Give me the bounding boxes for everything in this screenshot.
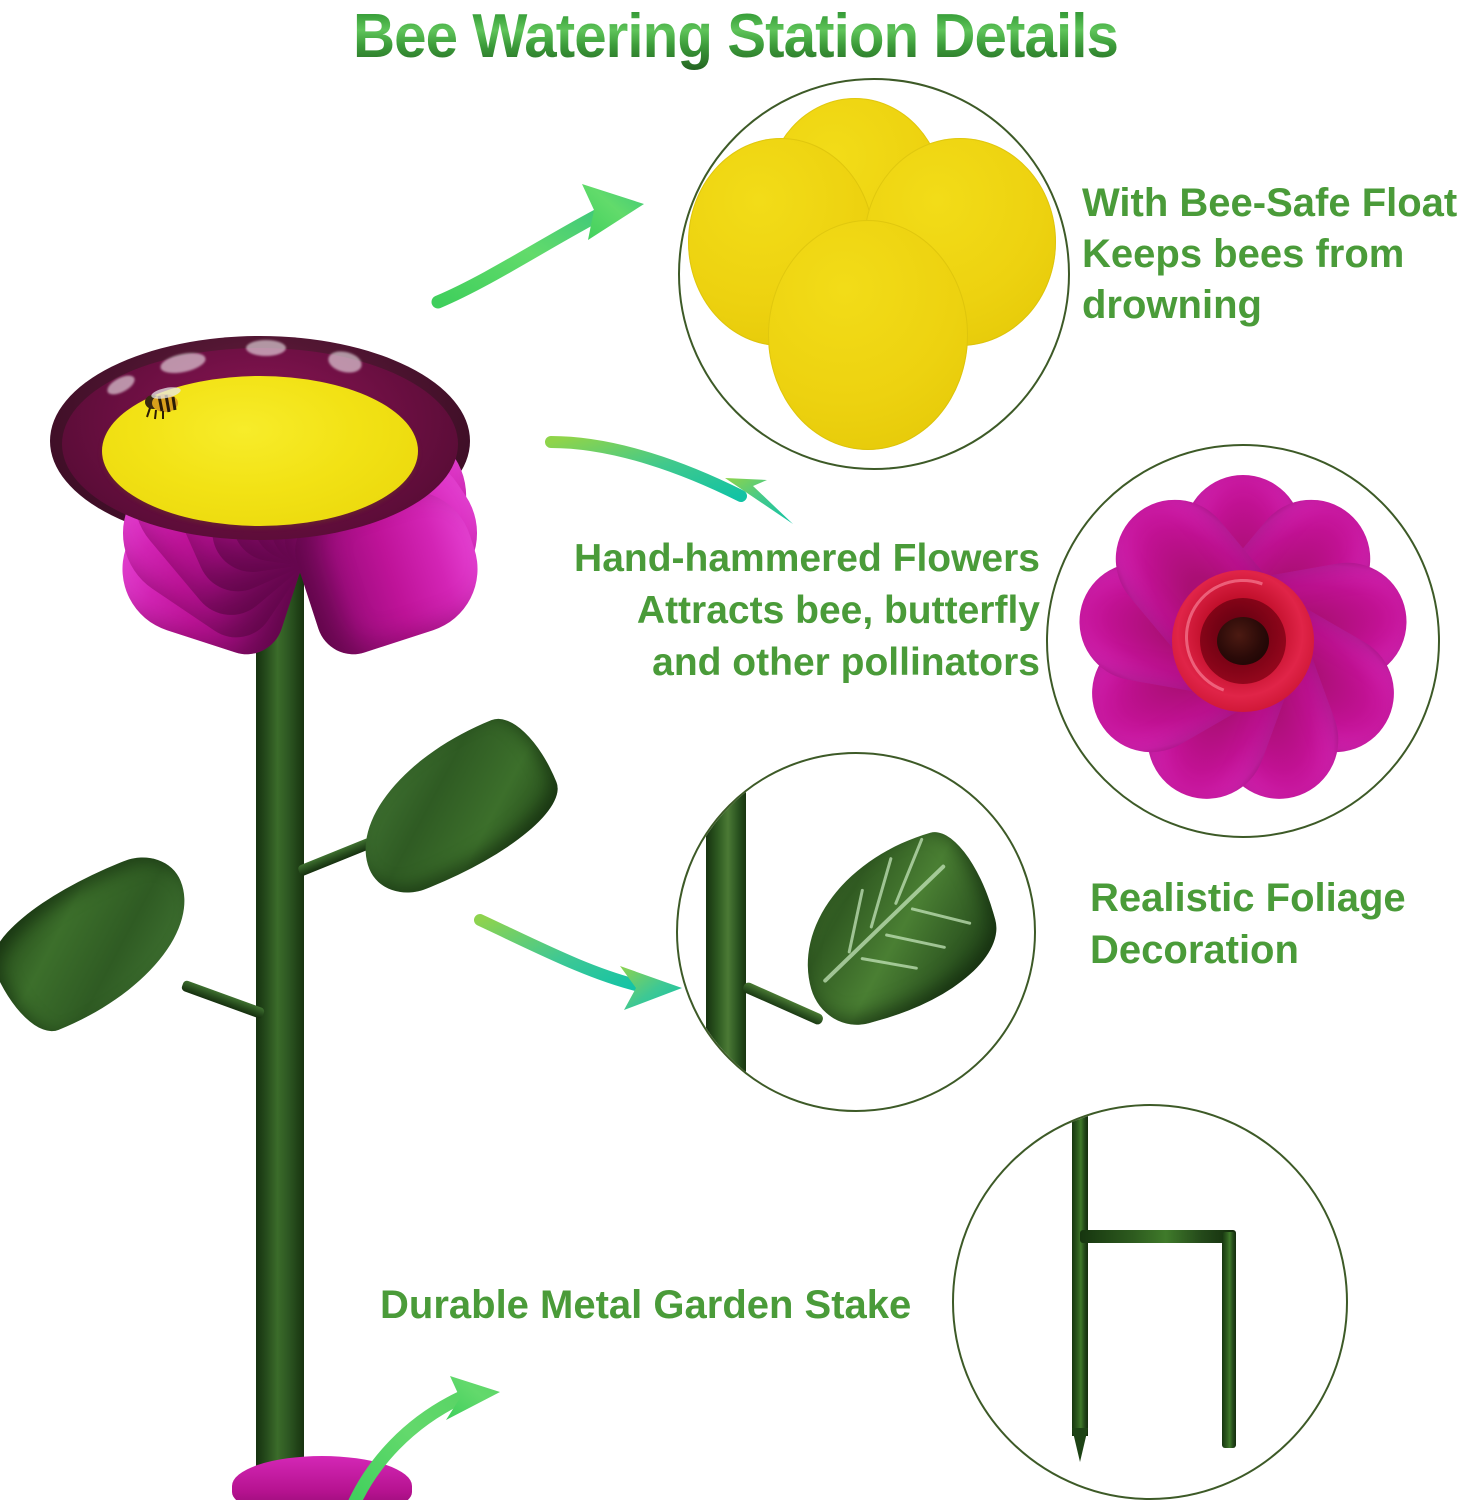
arrow-to-float-circle (360, 160, 680, 310)
detail-circle-bee-safe-float[interactable] (678, 78, 1070, 470)
callout-line: Hand-hammered Flowers (470, 533, 1040, 585)
float-discs-group (680, 80, 1068, 468)
callout-line: drowning (1082, 280, 1471, 331)
callout-line: and other pollinators (470, 637, 1040, 689)
stake-side-rod (1222, 1232, 1236, 1448)
leaf-stem-left (181, 980, 266, 1020)
arrow-to-flower-text (545, 420, 845, 550)
callout-line: Decoration (1090, 924, 1460, 976)
detail-circle-realistic-foliage[interactable] (676, 752, 1036, 1112)
stake-main-rod (1072, 1106, 1088, 1436)
product-leaf-left (0, 844, 215, 1044)
infographic-page: Bee Watering Station Details (0, 0, 1471, 1500)
callout-line: With Bee-Safe Float (1082, 178, 1471, 229)
arrow-to-leaf-circle (470, 900, 730, 1030)
honey-bee-icon (136, 386, 194, 420)
callout-text-bee-safe-float: With Bee-Safe Float Keeps bees from drow… (1082, 178, 1471, 331)
bowl-highlight (246, 340, 286, 356)
callout-line: Keeps bees from (1082, 229, 1471, 280)
leaf-vein (860, 957, 918, 970)
callout-text-hand-hammered-flowers: Hand-hammered Flowers Attracts bee, butt… (470, 533, 1040, 689)
metal-leaf-icon (779, 822, 1013, 1036)
flower-closeup-icon (1076, 474, 1410, 808)
callout-line: Attracts bee, butterfly (470, 585, 1040, 637)
callout-line: Durable Metal Garden Stake (380, 1280, 960, 1330)
callout-text-realistic-foliage: Realistic Foliage Decoration (1090, 872, 1460, 976)
float-disc-icon (768, 220, 968, 450)
product-leaf-right (335, 706, 575, 906)
callout-text-garden-stake: Durable Metal Garden Stake (380, 1280, 960, 1330)
leaf-vein (894, 837, 924, 905)
stake-pointed-tip (1072, 1428, 1088, 1462)
detail-circle-hand-hammered-flower[interactable] (1046, 444, 1440, 838)
arrow-to-stake-text (300, 1350, 600, 1500)
callout-line: Realistic Foliage (1090, 872, 1460, 924)
stake-cross-bar (1080, 1230, 1236, 1243)
detail-circle-garden-stake[interactable] (952, 1104, 1348, 1500)
leaf-vein (885, 933, 946, 949)
leaf-vein (911, 907, 972, 925)
page-title: Bee Watering Station Details (44, 2, 1427, 72)
